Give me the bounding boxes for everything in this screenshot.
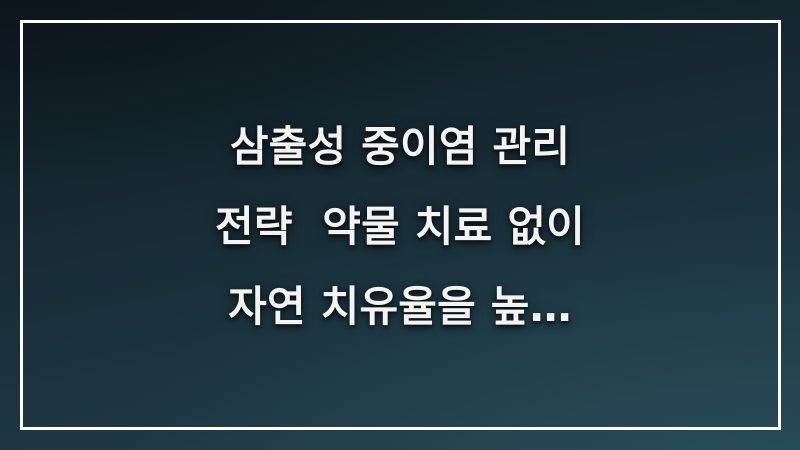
title-card: 삼출성 중이염 관리 전략 약물 치료 없이 자연 치유율을 높… [0, 0, 800, 450]
title-line-1: 삼출성 중이염 관리 [230, 107, 570, 187]
title-line-2: 전략 약물 치료 없이 [215, 187, 585, 267]
title-line-3: 자연 치유율을 높… [228, 267, 572, 347]
title-text-block: 삼출성 중이염 관리 전략 약물 치료 없이 자연 치유율을 높… [0, 0, 800, 450]
